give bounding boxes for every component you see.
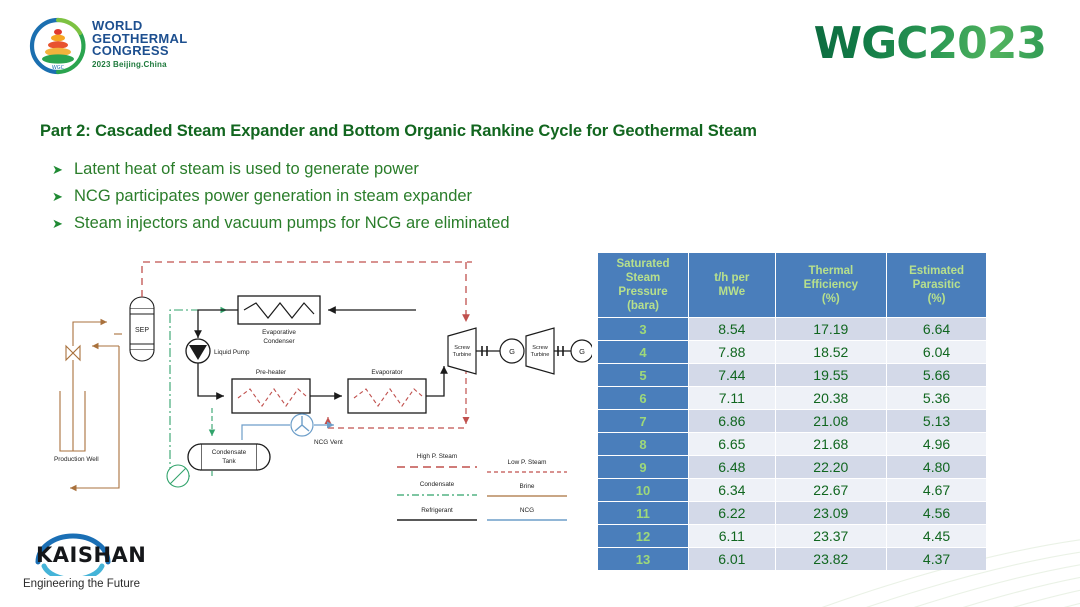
cell-pressure: 12 bbox=[598, 525, 688, 547]
cell-th-per-mwe: 6.01 bbox=[689, 548, 774, 570]
svg-text:WGC: WGC bbox=[52, 65, 65, 71]
evaporative-condenser-label-1: Evaporative bbox=[262, 329, 296, 336]
column-header-saturated-steam-pressure: Saturated Steam Pressure (bara) bbox=[598, 253, 688, 317]
cell-estimated-parasitic: 6.04 bbox=[887, 341, 986, 363]
bullet-text: Latent heat of steam is used to generate… bbox=[74, 158, 419, 180]
evaporative-condenser: Evaporative Condenser bbox=[238, 296, 320, 345]
cell-estimated-parasitic: 5.13 bbox=[887, 410, 986, 432]
congress-line-3: CONGRESS bbox=[92, 45, 187, 58]
legend-label-brine: Brine bbox=[520, 483, 535, 490]
cell-pressure: 5 bbox=[598, 364, 688, 386]
production-well-label: Production Well bbox=[54, 456, 99, 463]
ncg-line bbox=[242, 425, 334, 440]
arrow-bullet-icon: ➤ bbox=[52, 159, 74, 181]
table-row: 57.4419.555.66 bbox=[598, 364, 986, 386]
header-line: Steam bbox=[600, 271, 686, 285]
screw-turbine-label-2: Turbine bbox=[531, 352, 550, 358]
screw-turbine-label-1: Screw bbox=[532, 345, 549, 351]
column-header-th-per-mwe: t/h per MWe bbox=[689, 253, 774, 317]
cell-thermal-efficiency: 20.38 bbox=[776, 387, 887, 409]
cell-estimated-parasitic: 5.36 bbox=[887, 387, 986, 409]
cell-thermal-efficiency: 22.67 bbox=[776, 479, 887, 501]
bullet-list: ➤ Latent heat of steam is used to genera… bbox=[52, 158, 510, 239]
screw-turbine-2: Screw Turbine G bbox=[526, 328, 592, 374]
table-body: 38.5417.196.64 47.8818.526.04 57.4419.55… bbox=[598, 318, 986, 570]
wgc-pagoda-rings-icon: WGC bbox=[28, 16, 88, 76]
congress-wordmark: WORLD GEOTHERMAL CONGRESS 2023 Beijing.C… bbox=[92, 20, 187, 69]
bullet-text: NCG participates power generation in ste… bbox=[74, 185, 472, 207]
screw-turbine-label-1: Screw bbox=[454, 345, 471, 351]
table-row: 76.8621.085.13 bbox=[598, 410, 986, 432]
cell-pressure: 6 bbox=[598, 387, 688, 409]
header-line: t/h per bbox=[691, 271, 772, 285]
screw-turbine-label-2: Turbine bbox=[453, 352, 472, 358]
event-wordmark: WGC2023 bbox=[814, 18, 1046, 69]
header-line: (%) bbox=[778, 292, 885, 306]
cell-pressure: 7 bbox=[598, 410, 688, 432]
legend-label-refrigerant: Refrigerant bbox=[421, 507, 453, 514]
condensate-tank-label-2: Tank bbox=[222, 458, 236, 465]
arrow-bullet-icon: ➤ bbox=[52, 186, 74, 208]
column-header-estimated-parasitic: Estimated Parasitic (%) bbox=[887, 253, 986, 317]
kaishan-wordmark: KAISHAN bbox=[36, 543, 146, 567]
table-row: 106.3422.674.67 bbox=[598, 479, 986, 501]
header-line: (%) bbox=[889, 292, 984, 306]
table-row: 136.0123.824.37 bbox=[598, 548, 986, 570]
cell-estimated-parasitic: 5.66 bbox=[887, 364, 986, 386]
evaporative-condenser-label-2: Condenser bbox=[263, 338, 295, 345]
cell-thermal-efficiency: 23.09 bbox=[776, 502, 887, 524]
diagram-legend: High P. Steam Low P. Steam Condensate Br… bbox=[397, 453, 567, 520]
header-line: Parasitic bbox=[889, 278, 984, 292]
arrow-bullet-icon: ➤ bbox=[52, 213, 74, 235]
cell-estimated-parasitic: 4.56 bbox=[887, 502, 986, 524]
evaporator-label: Evaporator bbox=[371, 369, 403, 376]
cell-th-per-mwe: 6.11 bbox=[689, 525, 774, 547]
production-well-group bbox=[60, 366, 85, 451]
table-row: 47.8818.526.04 bbox=[598, 341, 986, 363]
cell-th-per-mwe: 7.11 bbox=[689, 387, 774, 409]
table-row: 126.1123.374.45 bbox=[598, 525, 986, 547]
cell-thermal-efficiency: 17.19 bbox=[776, 318, 887, 340]
legend-label-condensate: Condensate bbox=[420, 481, 455, 488]
condensate-pump bbox=[167, 465, 189, 487]
evaporator: Evaporator bbox=[348, 369, 426, 413]
cell-pressure: 9 bbox=[598, 456, 688, 478]
cell-th-per-mwe: 8.54 bbox=[689, 318, 774, 340]
cell-estimated-parasitic: 4.37 bbox=[887, 548, 986, 570]
header-line: MWe bbox=[691, 285, 772, 299]
cell-estimated-parasitic: 4.67 bbox=[887, 479, 986, 501]
header-line: (bara) bbox=[600, 299, 686, 313]
condensate-tank-label-1: Condensate bbox=[212, 449, 247, 456]
screw-turbine-1: Screw Turbine G bbox=[448, 328, 524, 374]
cell-th-per-mwe: 6.22 bbox=[689, 502, 774, 524]
cell-th-per-mwe: 6.86 bbox=[689, 410, 774, 432]
cell-estimated-parasitic: 6.64 bbox=[887, 318, 986, 340]
ncg-vent-label: NCG Vent bbox=[314, 439, 343, 446]
high-pressure-steam-line bbox=[142, 262, 472, 297]
page-title: Part 2: Cascaded Steam Expander and Bott… bbox=[40, 122, 757, 141]
bullet-text: Steam injectors and vacuum pumps for NCG… bbox=[74, 212, 510, 234]
cell-th-per-mwe: 7.88 bbox=[689, 341, 774, 363]
separator-label: SEP bbox=[135, 327, 149, 334]
header-line: Efficiency bbox=[778, 278, 885, 292]
process-flow-diagram: Production Well SEP bbox=[52, 248, 592, 548]
cell-pressure: 3 bbox=[598, 318, 688, 340]
cell-th-per-mwe: 6.48 bbox=[689, 456, 774, 478]
table-row: 38.5417.196.64 bbox=[598, 318, 986, 340]
list-item: ➤ Steam injectors and vacuum pumps for N… bbox=[52, 212, 510, 235]
list-item: ➤ NCG participates power generation in s… bbox=[52, 185, 510, 208]
condensate-tank: Condensate Tank bbox=[188, 444, 270, 470]
cell-th-per-mwe: 6.65 bbox=[689, 433, 774, 455]
cell-th-per-mwe: 7.44 bbox=[689, 364, 774, 386]
cell-thermal-efficiency: 21.68 bbox=[776, 433, 887, 455]
cell-pressure: 8 bbox=[598, 433, 688, 455]
legend-label-high-p-steam: High P. Steam bbox=[417, 453, 457, 460]
cell-estimated-parasitic: 4.80 bbox=[887, 456, 986, 478]
table-header-row: Saturated Steam Pressure (bara) t/h per … bbox=[598, 253, 986, 317]
column-header-thermal-efficiency: Thermal Efficiency (%) bbox=[776, 253, 887, 317]
congress-logo: WGC WORLD GEOTHERMAL CONGRESS 2023 Beiji… bbox=[28, 14, 203, 80]
cell-pressure: 13 bbox=[598, 548, 688, 570]
generator-label: G bbox=[579, 347, 585, 356]
separator-vessel: SEP bbox=[130, 297, 154, 361]
pre-heater-label: Pre-heater bbox=[256, 369, 287, 376]
cell-thermal-efficiency: 19.55 bbox=[776, 364, 887, 386]
header-line: Saturated bbox=[600, 257, 686, 271]
legend-label-low-p-steam: Low P. Steam bbox=[508, 459, 547, 466]
pre-heater: Pre-heater bbox=[232, 369, 310, 413]
cell-estimated-parasitic: 4.45 bbox=[887, 525, 986, 547]
cell-thermal-efficiency: 21.08 bbox=[776, 410, 887, 432]
slide-root: WGC WORLD GEOTHERMAL CONGRESS 2023 Beiji… bbox=[0, 0, 1080, 607]
header-line: Estimated bbox=[889, 264, 984, 278]
liquid-pump-label: Liquid Pump bbox=[214, 349, 250, 356]
ncg-vent-fan bbox=[291, 414, 313, 436]
legend-label-ncg: NCG bbox=[520, 507, 534, 514]
table-row: 86.6521.684.96 bbox=[598, 433, 986, 455]
cell-thermal-efficiency: 22.20 bbox=[776, 456, 887, 478]
cell-th-per-mwe: 6.34 bbox=[689, 479, 774, 501]
list-item: ➤ Latent heat of steam is used to genera… bbox=[52, 158, 510, 181]
liquid-pump: Liquid Pump bbox=[186, 339, 250, 363]
kaishan-logo: KAISHAN Engineering the Future bbox=[18, 532, 193, 594]
header-line: Pressure bbox=[600, 285, 686, 299]
cell-pressure: 10 bbox=[598, 479, 688, 501]
table-row: 96.4822.204.80 bbox=[598, 456, 986, 478]
table-row: 116.2223.094.56 bbox=[598, 502, 986, 524]
header-line: Thermal bbox=[778, 264, 885, 278]
cell-estimated-parasitic: 4.96 bbox=[887, 433, 986, 455]
cell-thermal-efficiency: 18.52 bbox=[776, 341, 887, 363]
generator-label: G bbox=[509, 347, 515, 356]
cell-pressure: 4 bbox=[598, 341, 688, 363]
congress-subtitle: 2023 Beijing.China bbox=[92, 60, 187, 69]
kaishan-tagline: Engineering the Future bbox=[23, 578, 140, 590]
table-row: 67.1120.385.36 bbox=[598, 387, 986, 409]
cell-thermal-efficiency: 23.37 bbox=[776, 525, 887, 547]
cell-pressure: 11 bbox=[598, 502, 688, 524]
cell-thermal-efficiency: 23.82 bbox=[776, 548, 887, 570]
performance-table: Saturated Steam Pressure (bara) t/h per … bbox=[597, 252, 987, 571]
